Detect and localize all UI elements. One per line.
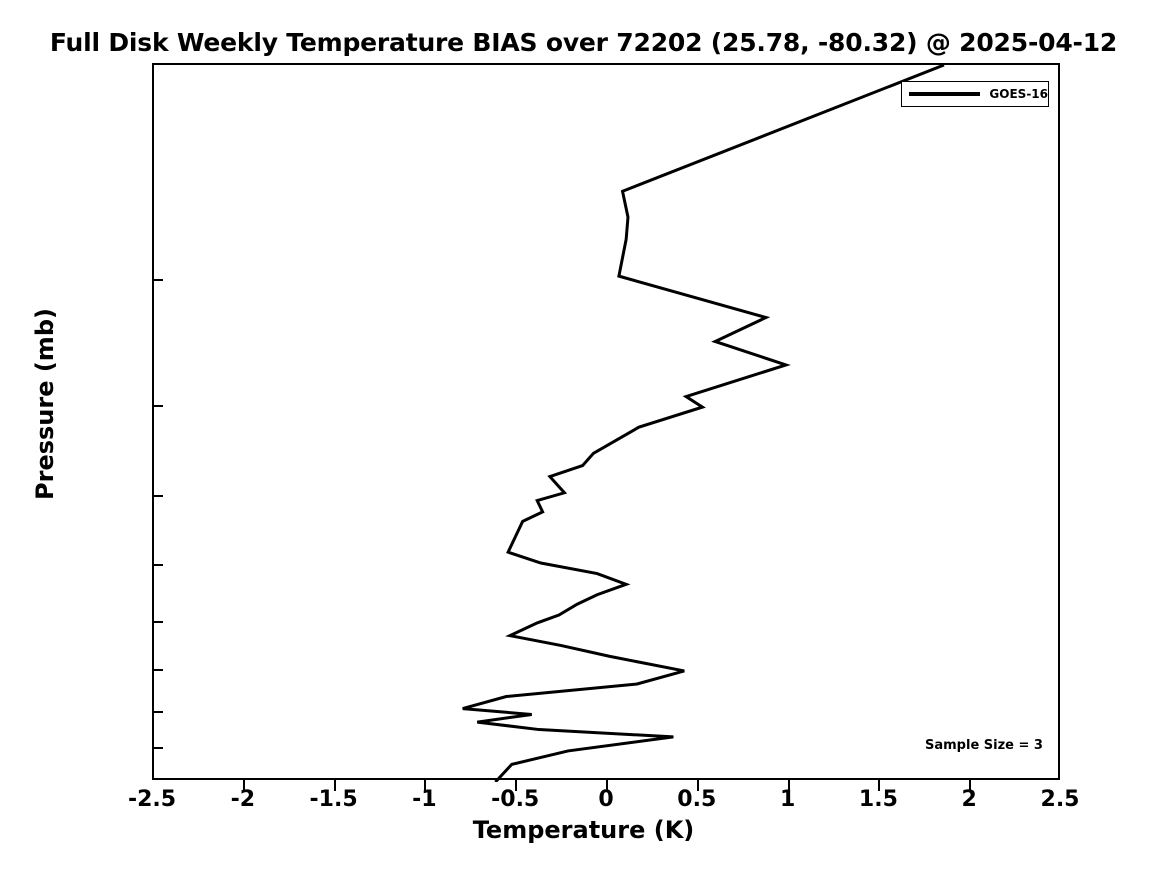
legend-swatch-goes16 xyxy=(909,92,980,96)
x-tick-mark-1p5 xyxy=(878,780,880,791)
x-tick-mark-neg1 xyxy=(424,780,426,791)
x-tick-mark-neg0p5 xyxy=(515,780,517,791)
chart-canvas: Full Disk Weekly Temperature BIAS over 7… xyxy=(0,0,1167,875)
x-tick-mark-0p5 xyxy=(697,780,699,791)
y-tick-mark-200 xyxy=(152,279,163,281)
x-axis-label: Temperature (K) xyxy=(0,816,1167,844)
y-tick-mark-400 xyxy=(152,495,163,497)
series-goes16 xyxy=(154,65,1062,782)
y-axis-label: Pressure (mb) xyxy=(31,254,59,554)
legend: GOES-16 xyxy=(901,81,1049,107)
x-tick-label-neg2p5: -2.5 xyxy=(128,787,176,812)
y-tick-mark-800 xyxy=(152,711,163,713)
x-tick-label-2p5: 2.5 xyxy=(1041,787,1080,812)
x-tick-mark-1 xyxy=(788,780,790,791)
chart-title: Full Disk Weekly Temperature BIAS over 7… xyxy=(0,28,1167,57)
y-tick-mark-500 xyxy=(152,564,163,566)
y-tick-mark-900 xyxy=(152,747,163,749)
x-tick-mark-0 xyxy=(606,780,608,791)
y-tick-mark-600 xyxy=(152,621,163,623)
x-tick-mark-2 xyxy=(969,780,971,791)
sample-size-annotation: Sample Size = 3 xyxy=(925,738,1043,753)
x-tick-mark-neg1p5 xyxy=(334,780,336,791)
y-tick-mark-700 xyxy=(152,669,163,671)
legend-label-goes16: GOES-16 xyxy=(989,87,1048,101)
series-line-goes16 xyxy=(463,65,944,782)
x-tick-mark-neg2 xyxy=(243,780,245,791)
y-tick-mark-300 xyxy=(152,405,163,407)
plot-area xyxy=(152,63,1060,780)
